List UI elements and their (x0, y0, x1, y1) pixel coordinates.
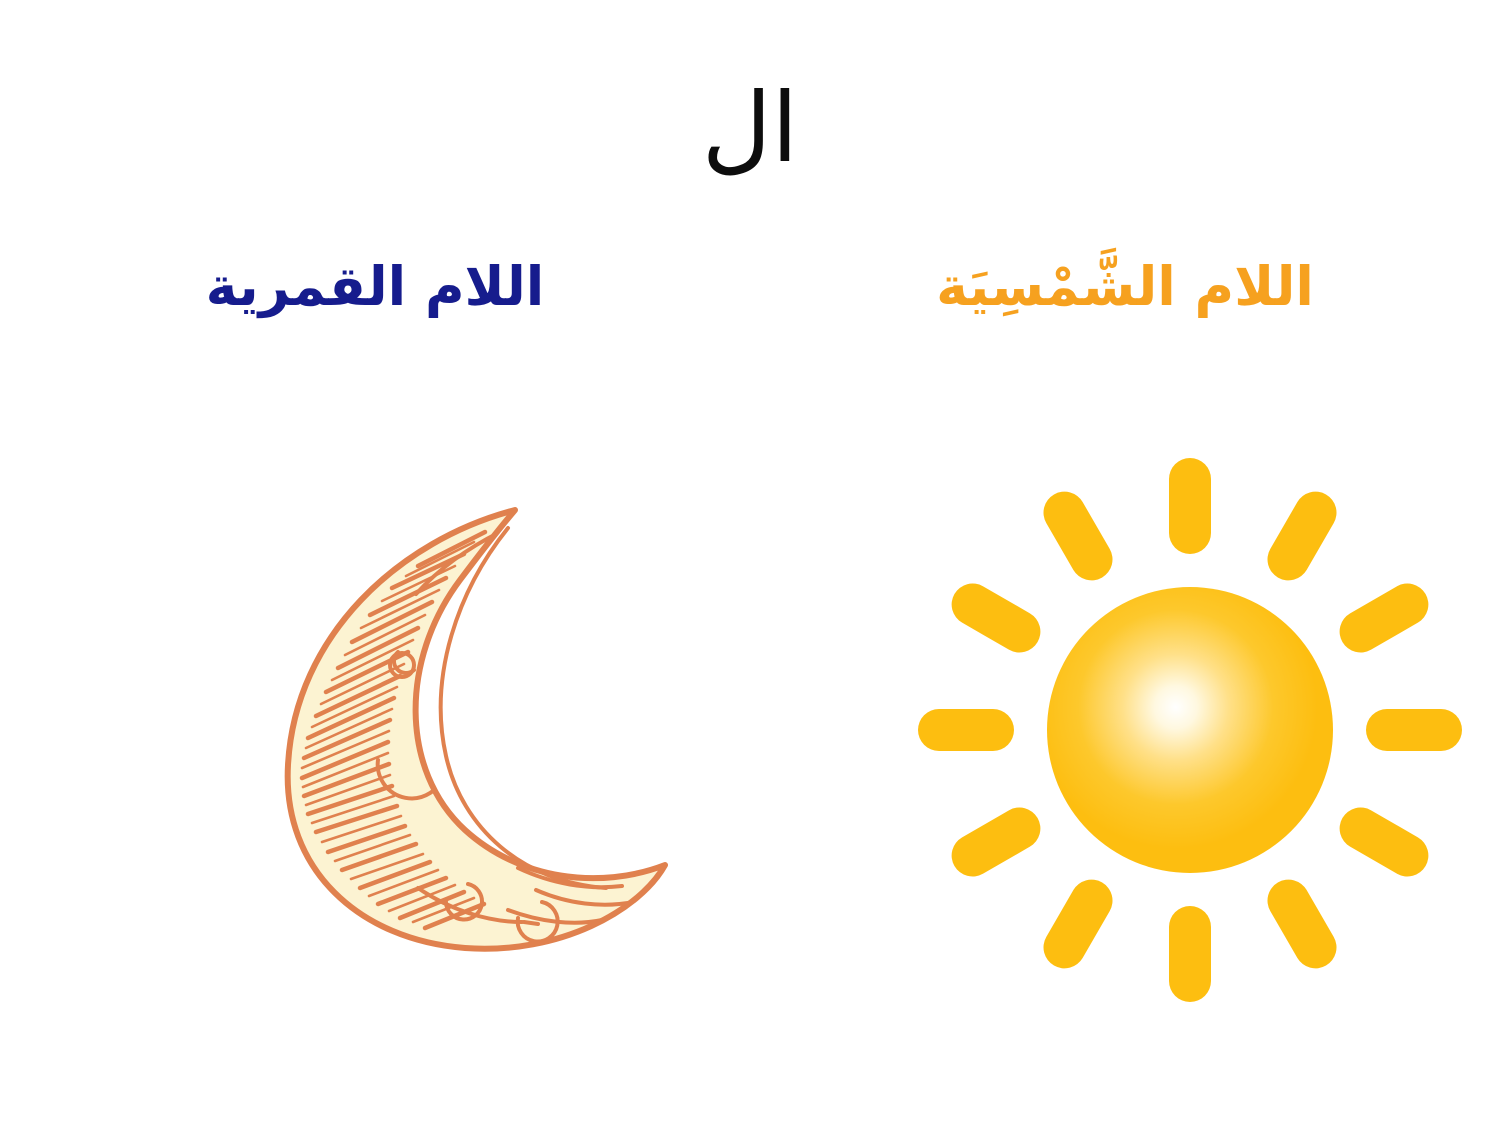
crescent-moon-icon (250, 470, 690, 970)
crescent-moon-illustration (250, 470, 690, 970)
sun-disc (1047, 587, 1333, 873)
lesson-slide: ال اللام القمرية (0, 0, 1500, 1124)
heading-lam-qamariyya: اللام القمرية (0, 255, 750, 320)
page-title: ال (0, 78, 1500, 179)
sun-icon (915, 455, 1465, 1005)
heading-lam-shamsiyya: اللام الشَّمْسِيَة (750, 255, 1500, 320)
sun-illustration (915, 455, 1465, 1005)
